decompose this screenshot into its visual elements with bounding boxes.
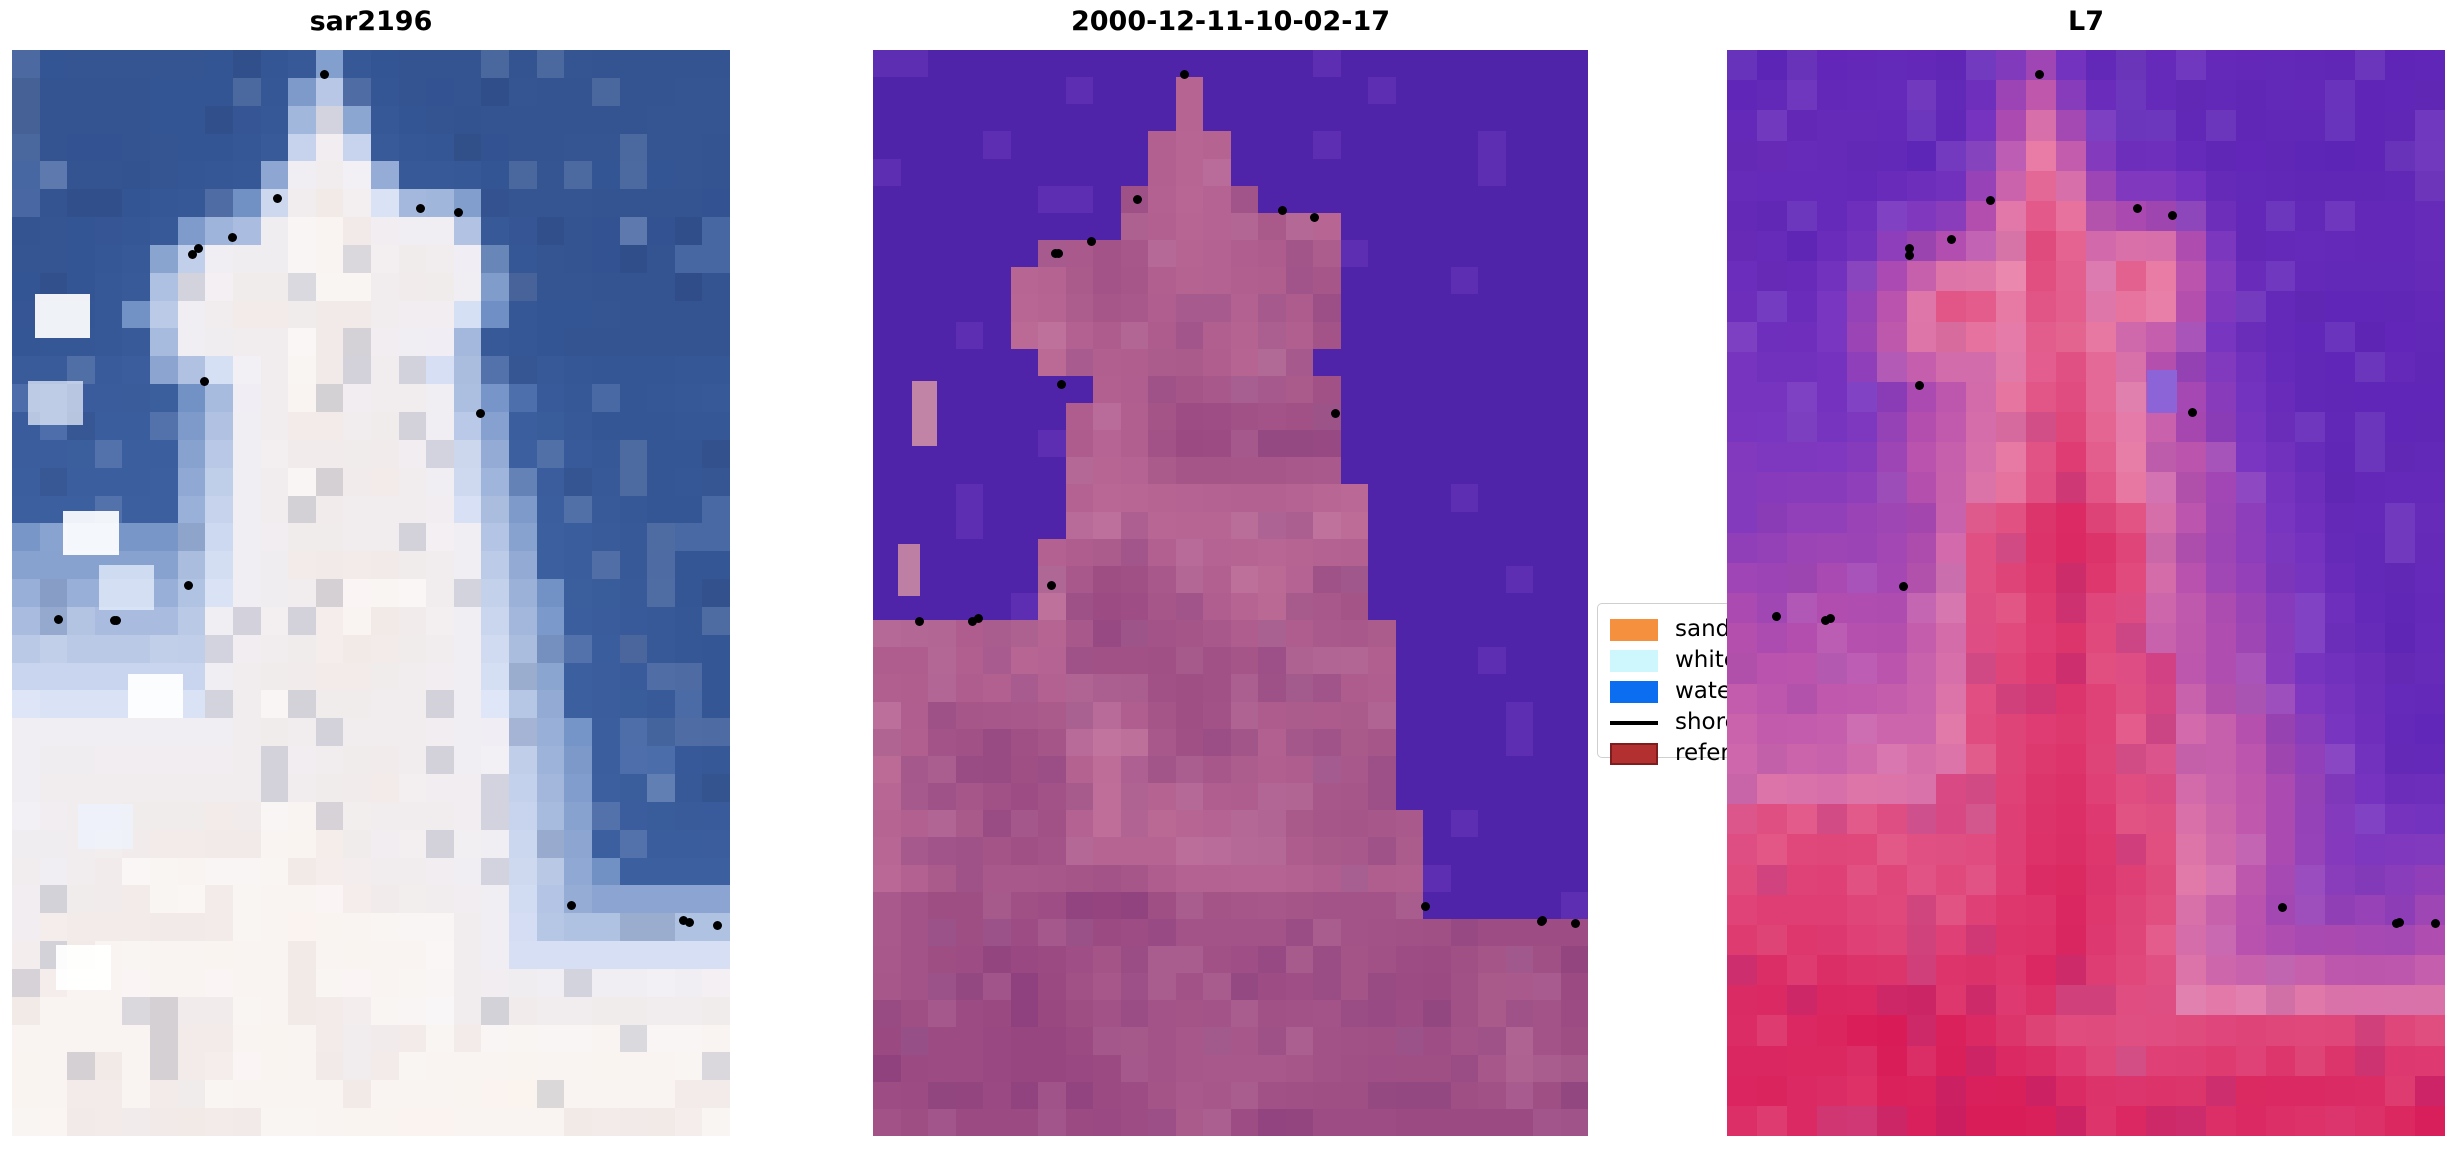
reference-swatch — [1610, 743, 1658, 765]
panel-title-sar: sar2196 — [12, 8, 730, 35]
legend-label-sand: sand — [1675, 618, 1730, 641]
l7-panel[interactable] — [1727, 50, 2445, 1136]
shoreline-line-icon — [1610, 721, 1658, 725]
panel-title-classified: 2000-12-11-10-02-17 — [873, 8, 1588, 35]
whitewater-swatch — [1610, 650, 1658, 672]
sar-panel[interactable] — [12, 50, 730, 1136]
panel-title-l7: L7 — [1727, 8, 2445, 35]
classified-panel[interactable] — [873, 50, 1588, 1136]
sand-swatch — [1610, 619, 1658, 641]
l7-shoreline-overlay — [1727, 50, 2445, 1136]
figure-canvas: sar2196 2000-12-11-10-02-17 sand whitewa… — [0, 0, 2460, 1150]
classified-shoreline-overlay — [873, 50, 1588, 1136]
water-swatch — [1610, 681, 1658, 703]
sar-shoreline-overlay — [12, 50, 730, 1136]
